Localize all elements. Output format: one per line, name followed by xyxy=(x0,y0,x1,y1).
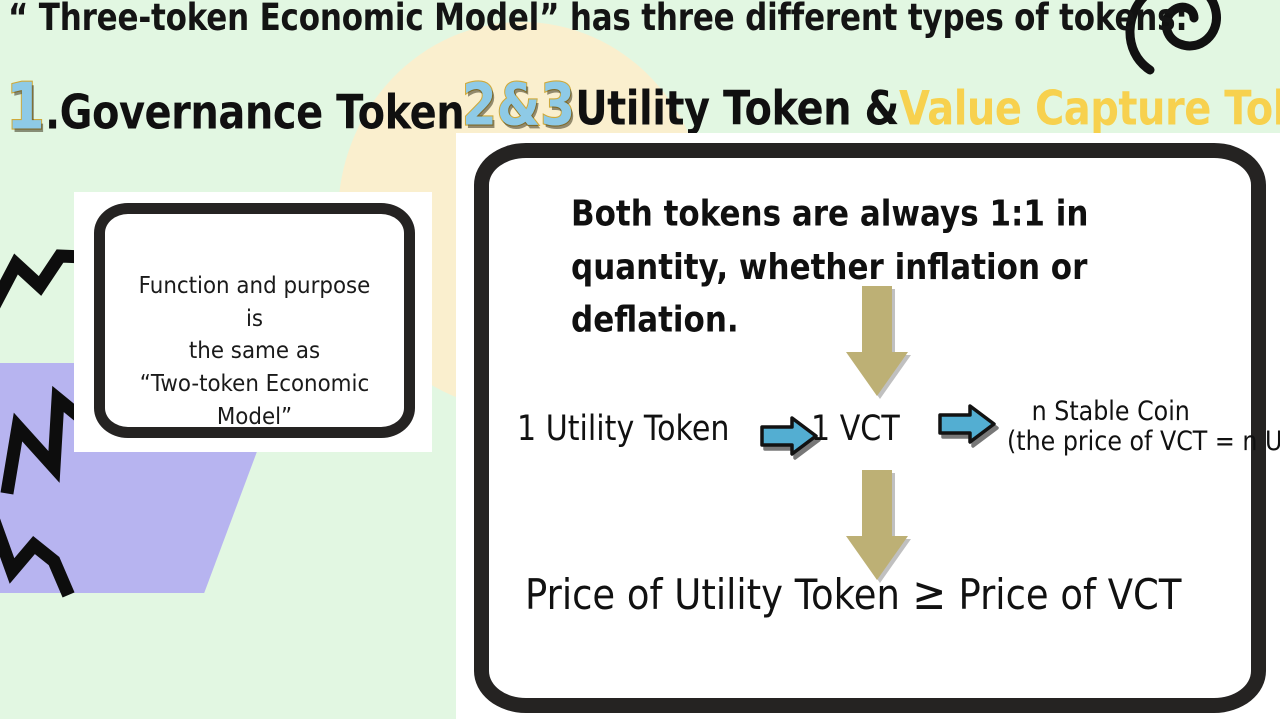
governance-card-line-3: the same as xyxy=(115,335,393,368)
section-number-2-3: 2&3 xyxy=(462,76,575,134)
utility-vct-card: Both tokens are always 1:1 in quantity, … xyxy=(456,133,1280,719)
stable-coin-note: (the price of VCT = n USD) xyxy=(1007,427,1280,457)
governance-card-line-4: “Two-token Economic Model” xyxy=(115,368,393,433)
flow-step-vct: 1 VCT xyxy=(811,409,900,449)
section-heading-utility-vct: 2&3 Utility Token & Value Capture Token(… xyxy=(462,80,1280,130)
slide-canvas: “ Three-token Economic Model” has three … xyxy=(0,0,1280,719)
utility-card-frame: Both tokens are always 1:1 in quantity, … xyxy=(474,143,1266,713)
section-heading-governance: 1 .Governance Token xyxy=(6,80,464,136)
governance-card-text: Function and purpose is the same as “Two… xyxy=(115,270,393,433)
zigzag-icon-bottom xyxy=(0,513,104,598)
governance-token-card: Function and purpose is the same as “Two… xyxy=(74,192,432,452)
utility-card-body: Both tokens are always 1:1 in quantity, … xyxy=(489,158,1251,698)
section-label-utility: Utility Token & xyxy=(575,85,899,132)
section-number-1: 1 xyxy=(6,76,45,140)
right-arrow-icon-1 xyxy=(759,415,819,457)
section-label-vct: Value Capture Token(VCT) xyxy=(899,85,1280,132)
governance-card-line-2: is xyxy=(115,303,393,336)
governance-card-line-1: Function and purpose xyxy=(115,270,393,303)
conclusion-right-term: Price of VCT xyxy=(958,570,1181,619)
stable-coin-label: n Stable Coin xyxy=(1007,397,1280,427)
flow-step-stable-coin: n Stable Coin (the price of VCT = n USD) xyxy=(1007,397,1280,457)
down-arrow-icon-bottom xyxy=(846,470,908,580)
down-arrow-icon-top xyxy=(846,286,908,396)
greater-equal-icon: ≥ xyxy=(900,566,959,620)
right-arrow-icon-2 xyxy=(937,403,997,445)
section-label-governance: .Governance Token xyxy=(45,89,464,136)
conclusion-left-term: Price of Utility Token xyxy=(525,570,900,619)
governance-card-frame: Function and purpose is the same as “Two… xyxy=(94,203,415,438)
flow-step-utility-token: 1 Utility Token xyxy=(517,409,729,449)
conclusion-equation: Price of Utility Token≥Price of VCT xyxy=(525,566,1181,620)
token-flow-row: 1 Utility Token 1 VCT n Stable Coin xyxy=(517,399,1257,473)
page-title: “ Three-token Economic Model” has three … xyxy=(8,0,1158,40)
